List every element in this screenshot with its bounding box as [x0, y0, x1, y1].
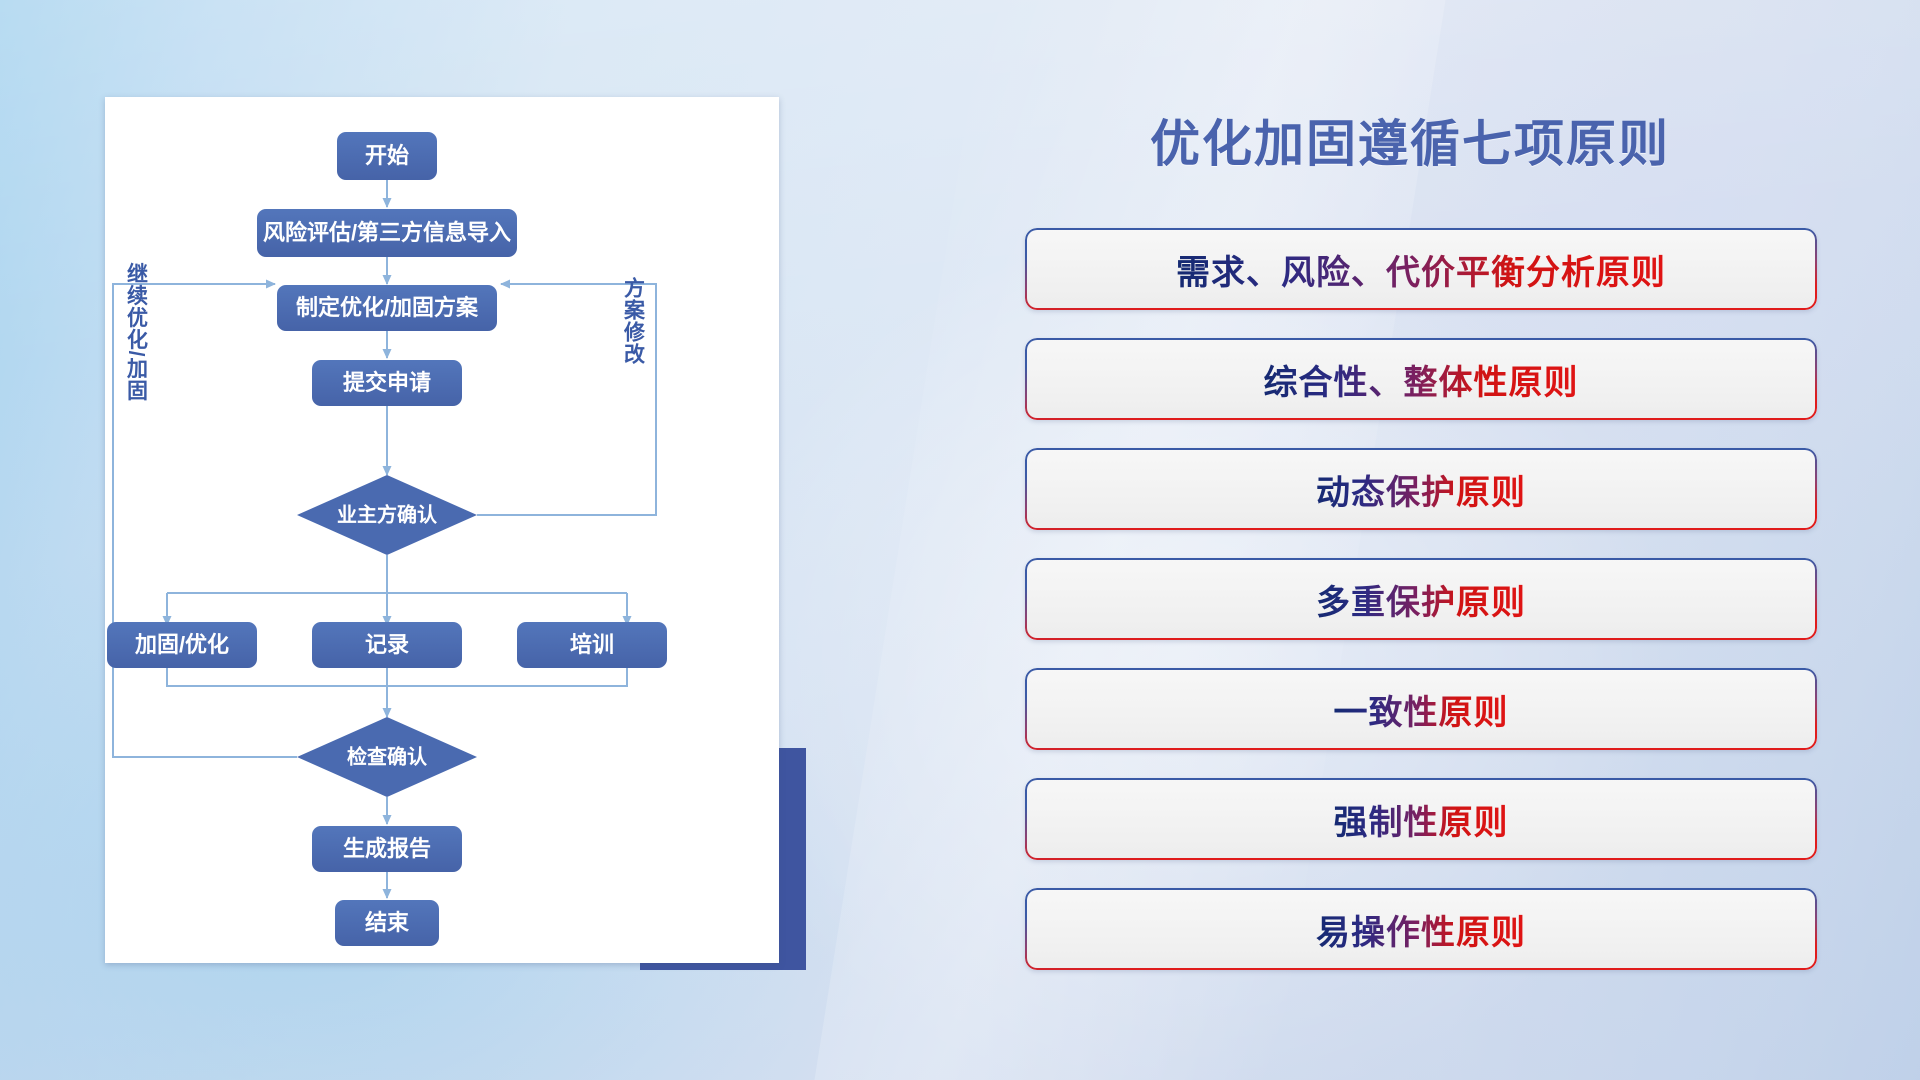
- page-title: 优化加固遵循七项原则: [950, 104, 1870, 176]
- principle-item-3[interactable]: 动态保护原则: [1025, 448, 1817, 530]
- flow-node-record-label: 记录: [365, 632, 409, 657]
- flow-node-owner-confirm[interactable]: 业主方确认: [297, 475, 477, 555]
- principle-item-2[interactable]: 综合性、整体性原则: [1025, 338, 1817, 420]
- principle-item-2-label: 综合性、整体性原则: [1264, 355, 1579, 404]
- flow-node-plan[interactable]: 制定优化/加固方案: [277, 285, 497, 331]
- principle-item-6[interactable]: 强制性原则: [1025, 778, 1817, 860]
- edge-label-continue-optimize: 继续优化/加固: [125, 262, 150, 401]
- flow-node-check-confirm-label: 检查确认: [347, 744, 428, 768]
- flow-node-start-label: 开始: [365, 143, 409, 168]
- flow-node-end[interactable]: 结束: [335, 900, 439, 946]
- flow-node-check-confirm[interactable]: 检查确认: [297, 717, 477, 797]
- principle-list: 需求、风险、代价平衡分析原则 综合性、整体性原则 动态保护原则 多重保护原则 一…: [1025, 228, 1817, 998]
- principle-item-3-label: 动态保护原则: [1316, 465, 1526, 514]
- principle-item-5[interactable]: 一致性原则: [1025, 668, 1817, 750]
- principle-item-1-label: 需求、风险、代价平衡分析原则: [1176, 245, 1666, 294]
- flow-node-training[interactable]: 培训: [517, 622, 667, 668]
- flow-node-end-label: 结束: [365, 910, 410, 935]
- flow-node-report[interactable]: 生成报告: [312, 826, 462, 872]
- principle-item-1[interactable]: 需求、风险、代价平衡分析原则: [1025, 228, 1817, 310]
- flow-node-submit-label: 提交申请: [343, 370, 431, 395]
- flow-node-start[interactable]: 开始: [337, 132, 437, 180]
- flowchart-panel: 开始 风险评估/第三方信息导入 制定优化/加固方案 提交申请 业主方确认 加固/…: [0, 0, 900, 1080]
- flow-node-owner-confirm-label: 业主方确认: [337, 502, 438, 526]
- flow-node-risk-assessment-label: 风险评估/第三方信息导入: [263, 220, 511, 245]
- flow-node-training-label: 培训: [570, 632, 614, 657]
- principle-item-4[interactable]: 多重保护原则: [1025, 558, 1817, 640]
- flow-node-reinforce-label: 加固/优化: [134, 632, 229, 657]
- edge-label-plan-revision: 方案修改: [622, 276, 647, 365]
- principles-panel: 优化加固遵循七项原则 需求、风险、代价平衡分析原则 综合性、整体性原则 动态保护…: [900, 0, 1920, 1080]
- flow-node-submit[interactable]: 提交申请: [312, 360, 462, 406]
- flow-node-risk-assessment[interactable]: 风险评估/第三方信息导入: [257, 209, 517, 257]
- flowchart-diagram: 开始 风险评估/第三方信息导入 制定优化/加固方案 提交申请 业主方确认 加固/…: [105, 97, 779, 963]
- flow-node-reinforce[interactable]: 加固/优化: [107, 622, 257, 668]
- flow-node-report-label: 生成报告: [343, 836, 431, 861]
- principle-item-5-label: 一致性原则: [1334, 685, 1509, 734]
- principle-item-4-label: 多重保护原则: [1316, 575, 1526, 624]
- flow-node-plan-label: 制定优化/加固方案: [296, 295, 479, 320]
- edge-merge-bus: [167, 668, 627, 686]
- principle-item-6-label: 强制性原则: [1334, 795, 1509, 844]
- principle-item-7[interactable]: 易操作性原则: [1025, 888, 1817, 970]
- principle-item-7-label: 易操作性原则: [1316, 905, 1526, 954]
- flow-node-record[interactable]: 记录: [312, 622, 462, 668]
